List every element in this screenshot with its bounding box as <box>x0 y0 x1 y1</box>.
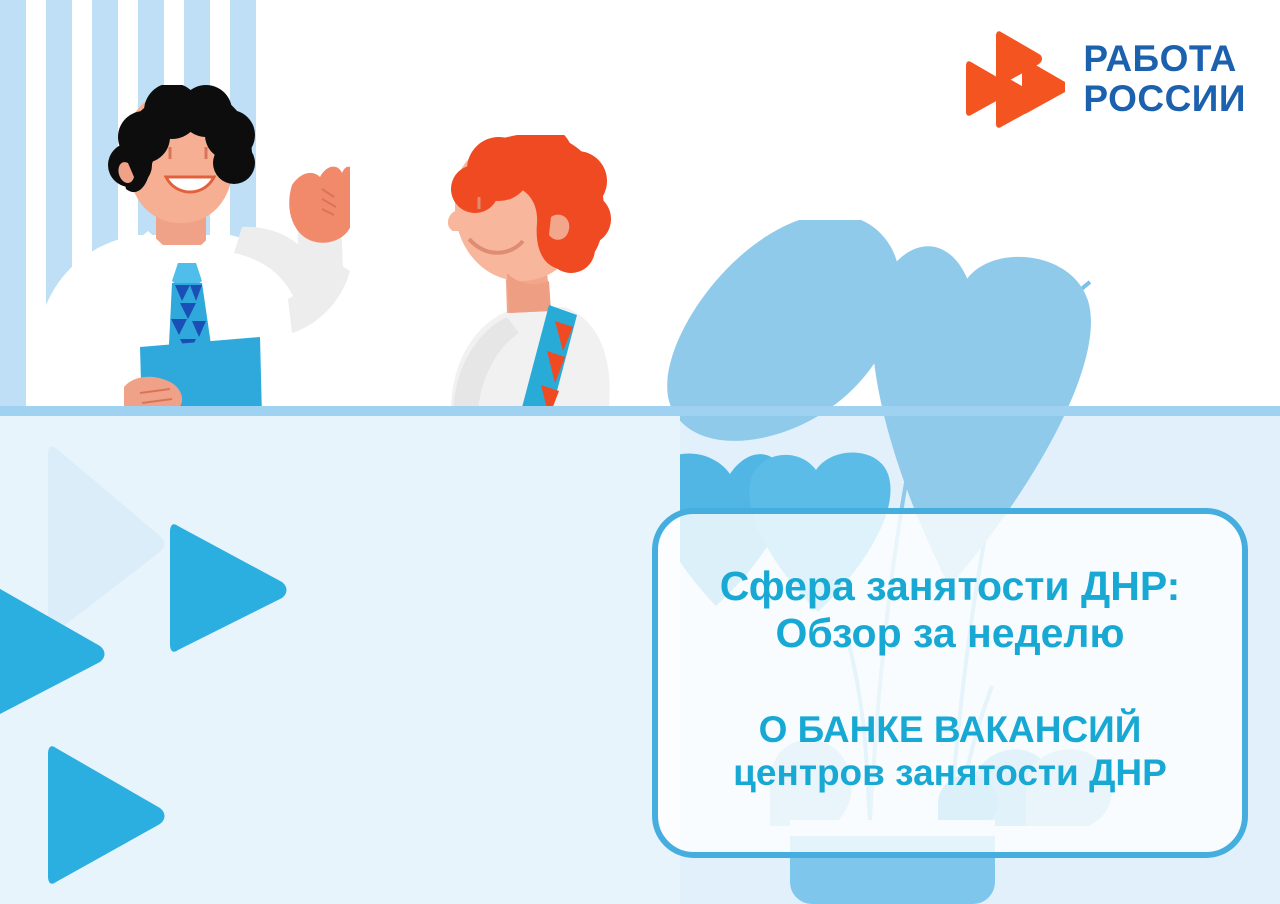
brand-logo-line2: РОССИИ <box>1083 79 1246 119</box>
decor-triangle-mid-left <box>0 550 108 750</box>
card-subtitle: О БАНКЕ ВАКАНСИЙ центров занятости ДНР <box>733 709 1167 795</box>
four-orange-triangles-icon <box>965 28 1065 130</box>
card-title-line1: Сфера занятости ДНР: <box>720 563 1181 610</box>
card-title: Сфера занятости ДНР: Обзор за неделю <box>720 563 1181 656</box>
brand-logo-text: РАБОТА РОССИИ <box>1083 39 1246 119</box>
card-subtitle-line2: центров занятости ДНР <box>733 752 1167 795</box>
poster-canvas: РАБОТА РОССИИ Сфера занятости ДНР: Обзор… <box>0 0 1280 904</box>
decor-triangle-mid-right <box>170 518 290 658</box>
counter-top-edge <box>0 406 1280 416</box>
brand-logo-line1: РАБОТА <box>1083 39 1246 79</box>
decor-triangle-lower <box>48 740 168 890</box>
card-title-line2: Обзор за неделю <box>720 610 1181 657</box>
figure-consultant <box>20 85 350 425</box>
brand-logo[interactable]: РАБОТА РОССИИ <box>965 28 1246 130</box>
headline-card: Сфера занятости ДНР: Обзор за неделю О Б… <box>652 508 1248 858</box>
card-subtitle-line1: О БАНКЕ ВАКАНСИЙ <box>733 709 1167 752</box>
